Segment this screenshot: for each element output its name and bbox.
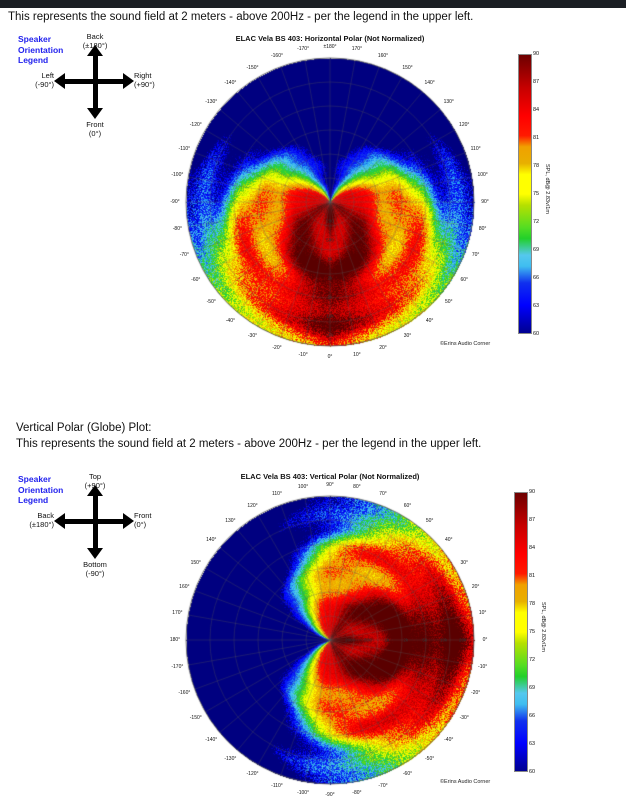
arrow-down-icon-v xyxy=(87,548,103,559)
colorbar-tick-60: 60 xyxy=(533,331,539,337)
legend-title: Speaker Orientation Legend xyxy=(18,34,63,66)
chart-title-horizontal: ELAC Vela BS 403: Horizontal Polar (Not … xyxy=(160,34,500,43)
vertical-polar-figure: ELAC Vela BS 403: Vertical Polar (Not No… xyxy=(160,472,560,802)
polar-angle-label: 70° xyxy=(472,252,480,258)
polar-radial-label: 200 xyxy=(345,638,353,643)
legend-v-top-label: Top (+90°) xyxy=(60,472,130,490)
polar-radial-label: 10k xyxy=(440,638,447,643)
polar-angle-label: 160° xyxy=(378,53,388,59)
legend-v-bottom-angle: (-90°) xyxy=(60,569,130,578)
polar-angle-label: 130° xyxy=(225,518,235,524)
legend-v-left-name: Back xyxy=(2,511,54,520)
polar-angle-label: -20° xyxy=(471,690,480,696)
legend-top-label: Back (±180°) xyxy=(60,32,130,50)
arrow-left-icon xyxy=(54,73,65,89)
legend-bottom-angle: (0°) xyxy=(60,129,130,138)
polar-angle-label: 80° xyxy=(353,484,361,490)
polar-angle-label: 180° xyxy=(170,637,180,643)
polar-angle-label: -60° xyxy=(403,771,412,777)
colorbar-horizontal: 9087848178757269666360SPL, dB@ 2.83v/1m xyxy=(518,54,532,334)
copyright-notice-vertical: ©Erins Audio Corner xyxy=(440,779,490,785)
speaker-orientation-legend-vertical: Speaker Orientation Legend Top (+90°) Bo… xyxy=(2,468,182,588)
polar-angle-label: 60° xyxy=(460,277,468,283)
polar-angle-label: -50° xyxy=(425,756,434,762)
polar-angle-label: -160° xyxy=(271,53,283,59)
legend-top-angle: (±180°) xyxy=(60,41,130,50)
polar-angle-label: -60° xyxy=(191,277,200,283)
polar-angle-label: -10° xyxy=(298,352,307,358)
polar-angle-label: 170° xyxy=(172,610,182,616)
legend-v-left-label: Back (±180°) xyxy=(2,511,54,529)
polar-radial-label: 20k xyxy=(459,638,466,643)
polar-angle-label: -100° xyxy=(297,790,309,796)
polar-angle-label: -20° xyxy=(272,345,281,351)
colorbar-tick-90: 90 xyxy=(533,51,539,57)
polar-angle-label: 110° xyxy=(471,146,481,152)
polar-radial-label: 5k xyxy=(328,294,333,299)
polar-angle-label: 50° xyxy=(426,518,434,524)
polar-angle-label: 80° xyxy=(479,226,487,232)
colorbar-tick-69: 69 xyxy=(529,685,535,691)
polar-angle-label: -110° xyxy=(271,783,283,789)
horizontal-axis-bar xyxy=(64,79,126,84)
colorbar-tick-87: 87 xyxy=(533,79,539,85)
legend-v-bottom-name: Bottom xyxy=(60,560,130,569)
polar-angle-label: -50° xyxy=(207,299,216,305)
polar-angle-label: -80° xyxy=(352,790,361,796)
polar-angle-label: -130° xyxy=(205,99,217,105)
polar-angle-label: 40° xyxy=(445,537,453,543)
polar-angle-label: 100° xyxy=(298,484,308,490)
colorbar-tick-72: 72 xyxy=(533,219,539,225)
polar-radial-label: 200 xyxy=(326,218,334,223)
polar-angle-label: 70° xyxy=(379,491,387,497)
polar-angle-label: -30° xyxy=(248,333,257,339)
polar-angle-label: -150° xyxy=(190,715,202,721)
colorbar-tick-87: 87 xyxy=(529,517,535,523)
polar-angle-label: -170° xyxy=(297,46,309,52)
legend-bottom-label: Front (0°) xyxy=(60,120,130,138)
polar-heatmap-canvas xyxy=(180,490,480,790)
legend-left-name: Left xyxy=(2,71,54,80)
polar-radial-label: 1k xyxy=(384,638,389,643)
colorbar-tick-78: 78 xyxy=(533,163,539,169)
polar-radial-label: 20k xyxy=(326,332,333,337)
legend-title-line1: Speaker xyxy=(18,34,63,45)
horizontal-polar-figure: ELAC Vela BS 403: Horizontal Polar (Not … xyxy=(160,34,560,364)
polar-angle-label: -40° xyxy=(226,318,235,324)
polar-angle-label: 20° xyxy=(379,345,387,351)
polar-radial-label: 10k xyxy=(326,313,333,318)
polar-radial-label: 500 xyxy=(326,237,334,242)
polar-angle-label: 100° xyxy=(477,172,487,178)
polar-angle-label: -70° xyxy=(378,783,387,789)
polar-angle-label: 50° xyxy=(445,299,453,305)
colorbar-tick-60: 60 xyxy=(529,769,535,775)
polar-angle-label: -90° xyxy=(325,792,334,798)
colorbar-tick-75: 75 xyxy=(533,191,539,197)
speaker-orientation-legend-horizontal: Speaker Orientation Legend Back (±180°) … xyxy=(2,28,182,148)
legend-v-left-angle: (±180°) xyxy=(2,520,54,529)
polar-angle-label: 0° xyxy=(483,637,488,643)
colorbar-tick-72: 72 xyxy=(529,657,535,663)
polar-angle-label: 140° xyxy=(424,80,434,86)
polar-angle-label: 150° xyxy=(191,560,201,566)
polar-angle-label: 10° xyxy=(353,352,361,358)
polar-angle-label: 120° xyxy=(247,503,257,509)
legend-title-v: Speaker Orientation Legend xyxy=(18,474,63,506)
arrow-down-icon xyxy=(87,108,103,119)
legend-left-angle: (-90°) xyxy=(2,80,54,89)
polar-heatmap-canvas xyxy=(180,52,480,352)
colorbar-tick-66: 66 xyxy=(533,275,539,281)
polar-angle-label: 90° xyxy=(481,199,489,205)
intro-paragraph: This represents the sound field at 2 met… xyxy=(8,10,473,24)
colorbar-tick-69: 69 xyxy=(533,247,539,253)
section-2-heading: Vertical Polar (Globe) Plot: xyxy=(16,421,152,435)
polar-angle-label: 0° xyxy=(328,354,333,360)
legend-title-line2: Orientation xyxy=(18,45,63,56)
polar-angle-label: ±180° xyxy=(323,44,336,50)
polar-radial-label: 5k xyxy=(422,638,427,643)
colorbar-tick-84: 84 xyxy=(533,107,539,113)
colorbar-tick-84: 84 xyxy=(529,545,535,551)
colorbar-axis-label: SPL, dB@ 2.83v/1m xyxy=(544,164,550,214)
polar-angle-label: -10° xyxy=(478,664,487,670)
colorbar-tick-81: 81 xyxy=(533,135,539,141)
colorbar-tick-63: 63 xyxy=(533,303,539,309)
polar-angle-label: -80° xyxy=(173,226,182,232)
section-2-paragraph: This represents the sound field at 2 met… xyxy=(16,437,481,451)
polar-angle-label: 40° xyxy=(426,318,434,324)
colorbar-tick-78: 78 xyxy=(529,601,535,607)
arrow-right-icon xyxy=(123,73,134,89)
legend-title-line3: Legend xyxy=(18,55,63,66)
polar-angle-label: 130° xyxy=(444,99,454,105)
polar-angle-label: -140° xyxy=(205,737,217,743)
legend-left-label: Left (-90°) xyxy=(2,71,54,89)
polar-angle-label: -40° xyxy=(444,737,453,743)
polar-angle-label: 30° xyxy=(404,333,412,339)
polar-radial-label: 2k xyxy=(328,275,333,280)
polar-angle-label: 150° xyxy=(402,65,412,71)
colorbar-vertical: 9087848178757269666360SPL, dB@ 2.83v/1m xyxy=(514,492,528,772)
legend-top-name: Back xyxy=(60,32,130,41)
polar-angle-label: -140° xyxy=(224,80,236,86)
polar-angle-label: -120° xyxy=(246,771,258,777)
polar-angle-label: 90° xyxy=(326,482,334,488)
colorbar-tick-63: 63 xyxy=(529,741,535,747)
polar-radial-label: 2k xyxy=(403,638,408,643)
polar-angle-label: 10° xyxy=(479,610,487,616)
legend-title-v-line3: Legend xyxy=(18,495,63,506)
colorbar-tick-66: 66 xyxy=(529,713,535,719)
polar-angle-label: -70° xyxy=(180,252,189,258)
colorbar-tick-90: 90 xyxy=(529,489,535,495)
legend-title-v-line1: Speaker xyxy=(18,474,63,485)
polar-angle-label: 110° xyxy=(272,491,282,497)
polar-plot-vertical: -170°-160°-150°-140°-130°-120°-110°-100°… xyxy=(180,490,480,790)
polar-angle-label: 170° xyxy=(352,46,362,52)
horizontal-axis-bar-v xyxy=(64,519,126,524)
polar-angle-label: -120° xyxy=(190,122,202,128)
colorbar-axis-label: SPL, dB@ 2.83v/1m xyxy=(540,602,546,652)
legend-bottom-name: Front xyxy=(60,120,130,129)
polar-angle-label: -160° xyxy=(178,690,190,696)
chart-title-vertical: ELAC Vela BS 403: Vertical Polar (Not No… xyxy=(160,472,500,481)
legend-v-top-name: Top xyxy=(60,472,130,481)
legend-v-top-angle: (+90°) xyxy=(60,481,130,490)
polar-radial-label: 1k xyxy=(328,256,333,261)
legend-v-bottom-label: Bottom (-90°) xyxy=(60,560,130,578)
polar-angle-label: -170° xyxy=(171,664,183,670)
polar-angle-label: -150° xyxy=(246,65,258,71)
colorbar-tick-75: 75 xyxy=(529,629,535,635)
polar-angle-label: -30° xyxy=(460,715,469,721)
polar-plot-horizontal: -170°-160°-150°-140°-130°-120°-110°-100°… xyxy=(180,52,480,352)
colorbar-gradient-v xyxy=(514,492,528,772)
polar-angle-label: -100° xyxy=(171,172,183,178)
polar-angle-label: -130° xyxy=(224,756,236,762)
polar-angle-label: -110° xyxy=(179,146,191,152)
copyright-notice-horizontal: ©Erins Audio Corner xyxy=(440,341,490,347)
window-title-bar xyxy=(0,0,626,8)
polar-radial-label: 500 xyxy=(364,638,372,643)
polar-angle-label: 120° xyxy=(459,122,469,128)
arrow-right-icon-v xyxy=(123,513,134,529)
polar-angle-label: 160° xyxy=(179,584,189,590)
colorbar-tick-81: 81 xyxy=(529,573,535,579)
polar-angle-label: 60° xyxy=(404,503,412,509)
polar-angle-label: 20° xyxy=(472,584,480,590)
arrow-left-icon-v xyxy=(54,513,65,529)
colorbar-gradient xyxy=(518,54,532,334)
polar-angle-label: 30° xyxy=(460,560,468,566)
polar-angle-label: 140° xyxy=(206,537,216,543)
polar-angle-label: -90° xyxy=(170,199,179,205)
legend-title-v-line2: Orientation xyxy=(18,485,63,496)
